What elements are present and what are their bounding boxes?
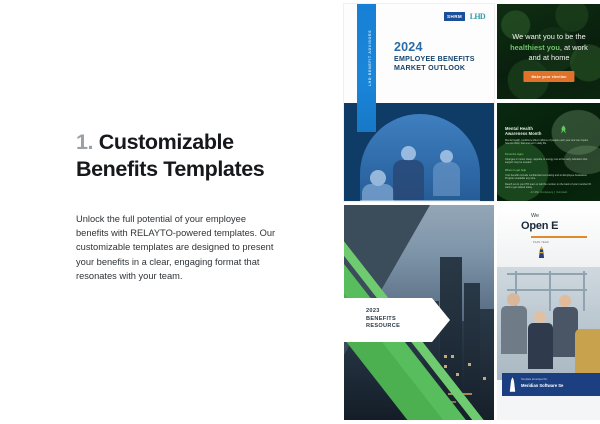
oe-footer-caption: Template developed for: xyxy=(521,378,548,381)
card-logos: SHRM LHD xyxy=(444,12,485,21)
lhd-logo: LHD xyxy=(470,12,485,21)
awareness-ribbon-icon xyxy=(560,125,567,134)
template-card-open-enrollment[interactable]: We Open E PLAN YEAR xyxy=(497,205,600,420)
template-card-benefits-resource[interactable]: 2023 BENEFITS RESOURCE xyxy=(344,205,494,420)
group-photo xyxy=(497,267,600,380)
hero-line-1: We want you to be the xyxy=(512,32,585,41)
mh-subhead-2: Where to get help xyxy=(505,169,593,172)
table-surface xyxy=(360,200,480,201)
template-gallery: LHD BENEFIT ADVISORS SHRM LHD 2024 EMPLO… xyxy=(341,0,600,424)
section-number: 1. xyxy=(76,130,93,154)
vertical-accent-bar: LHD BENEFIT ADVISORS xyxy=(357,4,376,132)
banner-text: 2023 BENEFITS RESOURCE xyxy=(366,308,400,331)
banner-line-1: 2023 xyxy=(366,308,380,314)
slide-canvas: 1. Customizable Benefits Templates Unloc… xyxy=(0,0,600,424)
page-title: 1. Customizable Benefits Templates xyxy=(76,129,326,183)
card-title: EMPLOYEE BENEFITS MARKET OUTLOOK xyxy=(394,55,489,73)
card-title-line-2: MARKET OUTLOOK xyxy=(394,64,465,72)
template-card-healthiest-you[interactable]: We want you to be the healthiest you, at… xyxy=(497,4,600,99)
hero-line-3: and at home xyxy=(528,53,569,62)
oe-kicker: We xyxy=(531,213,539,219)
template-card-mental-health[interactable]: Mental Health Awareness Month Mental hea… xyxy=(497,103,600,201)
template-card-market-outlook[interactable]: LHD BENEFIT ADVISORS SHRM LHD 2024 EMPLO… xyxy=(344,4,494,201)
vertical-brand-label: LHD BENEFIT ADVISORS xyxy=(368,5,372,111)
make-election-button[interactable]: Make your election xyxy=(523,71,574,82)
mental-health-heading-line-2: Awareness Month xyxy=(505,131,541,136)
person-body xyxy=(575,329,600,377)
hero-statement: We want you to be the healthiest you, at… xyxy=(501,32,597,64)
mh-paragraph-3: Your benefits include confidential couns… xyxy=(505,174,593,181)
body-paragraph: Unlock the full potential of your employ… xyxy=(76,212,281,283)
oe-subtitle: PLAN YEAR xyxy=(533,240,549,244)
headline-line-1: Customizable xyxy=(99,130,234,154)
card-year: 2024 xyxy=(394,40,423,54)
oe-title: Open E xyxy=(521,220,558,232)
mh-footer: ACME Company | Contact xyxy=(497,191,600,194)
banner-line-2: BENEFITS xyxy=(366,316,396,322)
mental-health-heading-line-1: Mental Health xyxy=(505,126,533,131)
person-head xyxy=(534,311,546,323)
lighthouse-icon xyxy=(508,377,517,392)
oe-footer-bar: Template developed for: Meridian Softwar… xyxy=(502,373,600,396)
hero-highlight: healthiest you xyxy=(510,43,560,52)
hero-line-2: , at work xyxy=(560,43,588,52)
mental-health-heading: Mental Health Awareness Month xyxy=(505,126,557,137)
building xyxy=(480,309,494,420)
shrm-logo: SHRM xyxy=(444,12,464,20)
open-enrollment-header: We Open E PLAN YEAR xyxy=(497,205,600,267)
banner-line-3: RESOURCE xyxy=(366,323,400,329)
person-head xyxy=(507,293,520,306)
person-body xyxy=(501,306,527,354)
mh-subhead-1: Know the signs xyxy=(505,153,593,156)
lighthouse-icon xyxy=(537,246,546,258)
resource-banner: 2023 BENEFITS RESOURCE xyxy=(344,298,450,342)
oe-divider xyxy=(531,236,587,238)
mh-paragraph-4: Reach out to your HR team or call the nu… xyxy=(505,183,593,190)
oe-footer-company: Meridian Software Se xyxy=(521,383,563,388)
left-text-panel: 1. Customizable Benefits Templates Unloc… xyxy=(0,0,338,424)
headline-line-2: Benefits Templates xyxy=(76,157,264,181)
person-head xyxy=(559,295,571,307)
person-body xyxy=(528,323,553,369)
mh-paragraph-1: Mental health conditions affect millions… xyxy=(505,139,593,146)
card-title-line-1: EMPLOYEE BENEFITS xyxy=(394,55,475,63)
mh-paragraph-2: Changes in mood, sleep, appetite or ener… xyxy=(505,158,593,165)
